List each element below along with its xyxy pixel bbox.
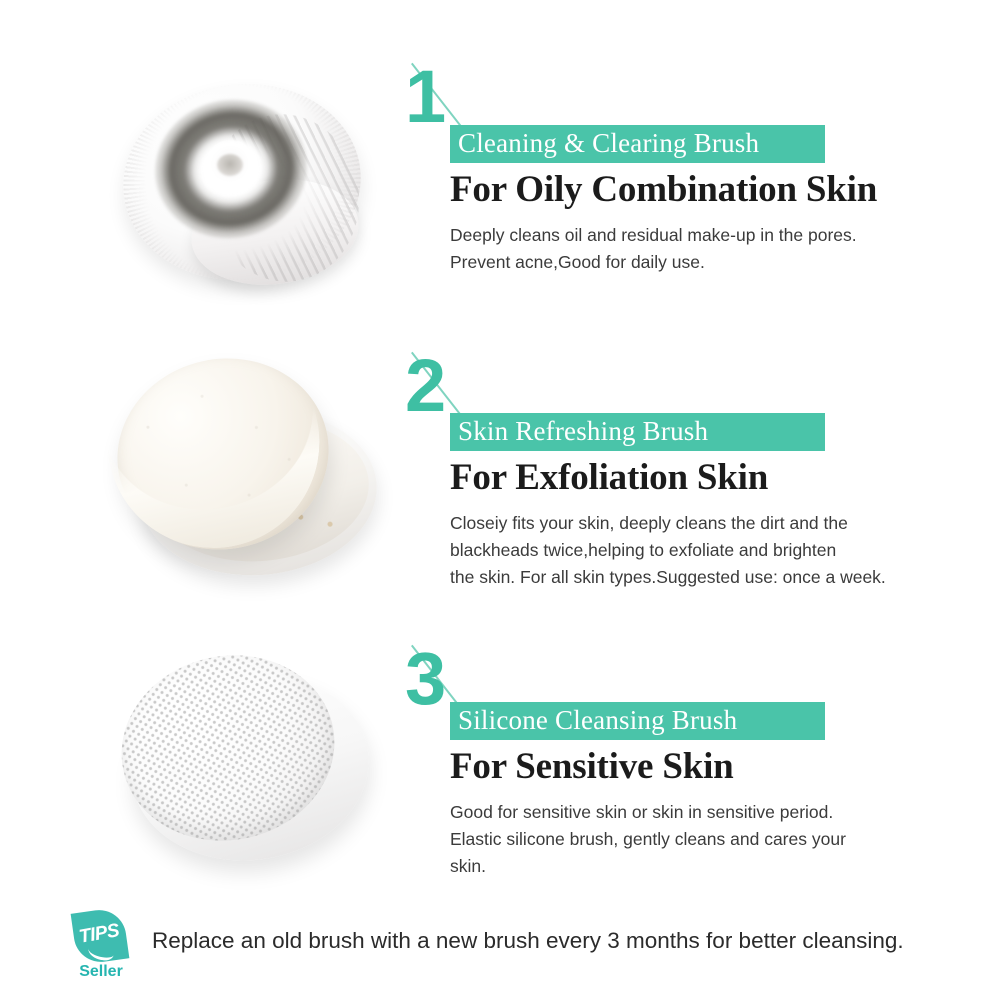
headline-3: For Sensitive Skin (450, 745, 970, 789)
product-image-2 (95, 335, 395, 615)
description-line: Deeply cleans oil and residual make-up i… (450, 222, 920, 249)
product-image-1 (95, 40, 395, 320)
brush-type-tag-1: Cleaning & Clearing Brush (450, 125, 825, 163)
footer: TIPS Seller Replace an old brush with a … (0, 905, 1000, 1000)
footer-note: Replace an old brush with a new brush ev… (152, 926, 904, 956)
description-line: the skin. For all skin types.Suggested u… (450, 564, 920, 591)
silicone-brush-graphic (117, 644, 379, 876)
description-line: skin. (450, 853, 920, 880)
text-block-2: Skin Refreshing Brush For Exfoliation Sk… (450, 413, 970, 591)
description-line: Good for sensitive skin or skin in sensi… (450, 799, 920, 826)
text-block-3: Silicone Cleansing Brush For Sensitive S… (450, 702, 970, 880)
product-section-2: 2 Skin Refreshing Brush For Exfoliation … (0, 335, 1000, 635)
product-image-3 (95, 630, 395, 910)
bristle-brush-graphic (113, 62, 375, 277)
seller-label: Seller (68, 962, 134, 982)
product-section-3: 3 Silicone Cleansing Brush For Sensitive… (0, 630, 1000, 910)
description-2: Closeiy fits your skin, deeply cleans th… (450, 510, 920, 591)
headline-1: For Oily Combination Skin (450, 168, 970, 212)
brush-type-tag-2: Skin Refreshing Brush (450, 413, 825, 451)
tips-seller-badge: TIPS Seller (68, 910, 134, 988)
brush-center-dot (217, 154, 243, 176)
description-line: Elastic silicone brush, gently cleans an… (450, 826, 920, 853)
step-numeral: 2 (405, 347, 444, 425)
description-line: blackheads twice,helping to exfoliate an… (450, 537, 920, 564)
description-line: Prevent acne,Good for daily use. (450, 249, 920, 276)
description-3: Good for sensitive skin or skin in sensi… (450, 799, 920, 880)
description-1: Deeply cleans oil and residual make-up i… (450, 222, 920, 276)
text-block-1: Cleaning & Clearing Brush For Oily Combi… (450, 125, 970, 276)
step-numeral: 1 (405, 58, 444, 136)
step-numeral: 3 (405, 640, 444, 718)
product-section-1: 1 Cleaning & Clearing Brush For Oily Com… (0, 40, 1000, 340)
brush-head-illustration-3 (95, 630, 395, 910)
infographic-page: 1 Cleaning & Clearing Brush For Oily Com… (0, 0, 1000, 1000)
brush-type-tag-3: Silicone Cleansing Brush (450, 702, 825, 740)
brush-head-illustration-1 (95, 40, 395, 320)
description-line: Closeiy fits your skin, deeply cleans th… (450, 510, 920, 537)
brush-head-illustration-2 (95, 335, 395, 615)
headline-2: For Exfoliation Skin (450, 456, 970, 500)
sponge-puff-graphic (105, 353, 385, 583)
